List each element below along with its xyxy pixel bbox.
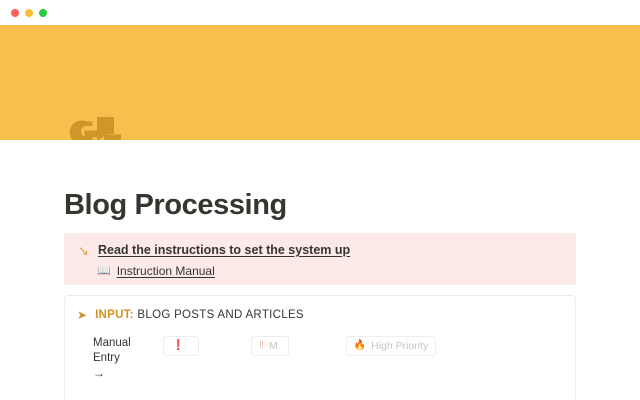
row-chips: ❗ ‼ M. 🔥 High Priority — [139, 336, 436, 356]
input-card: ➤ INPUT: BLOG POSTS AND ARTICLES Manual … — [64, 295, 576, 400]
chip-high-priority-label: High Priority — [371, 337, 428, 355]
arrow-down-right-icon: ↘ — [76, 242, 91, 259]
chip-double-exclamation-label: M. — [269, 337, 281, 355]
minimize-button[interactable] — [25, 9, 33, 17]
callout-sub-row: 📖 Instruction Manual — [97, 263, 562, 279]
app-window: Blog Processing ↘ Read the instructions … — [0, 0, 640, 400]
instruction-manual-link[interactable]: Instruction Manual — [117, 263, 215, 279]
open-book-icon: 📖 — [97, 264, 111, 279]
table-row[interactable]: Manual Entry → ❗ ‼ M. 🔥 High Priority — [65, 336, 575, 381]
window-traffic-lights — [11, 9, 47, 17]
close-button[interactable] — [11, 9, 19, 17]
arrow-right-icon: ➤ — [77, 308, 87, 322]
window-titlebar — [0, 0, 640, 25]
input-card-header: ➤ INPUT: BLOG POSTS AND ARTICLES — [65, 308, 575, 322]
manual-entry-cell[interactable]: Manual Entry → — [93, 336, 139, 381]
input-card-title: BLOG POSTS AND ARTICLES — [137, 309, 303, 321]
fire-icon: 🔥 — [354, 337, 366, 355]
zoom-button[interactable] — [39, 9, 47, 17]
chip-double-exclamation[interactable]: ‼ M. — [251, 336, 289, 356]
input-card-label: INPUT: — [95, 309, 134, 321]
input-card-header-text: INPUT: BLOG POSTS AND ARTICLES — [95, 308, 304, 322]
page-content: Blog Processing ↘ Read the instructions … — [0, 140, 640, 400]
double-exclamation-mark-icon: ‼ — [259, 337, 264, 355]
exclamation-mark-icon: ❗ — [172, 337, 184, 355]
callout-main-row: ↘ Read the instructions to set the syste… — [76, 242, 562, 259]
instructions-link[interactable]: Read the instructions to set the system … — [98, 242, 350, 259]
page-title: Blog Processing — [64, 188, 287, 222]
chip-high-priority[interactable]: 🔥 High Priority — [346, 336, 437, 356]
chip-exclamation[interactable]: ❗ — [163, 336, 199, 356]
manual-entry-label: Manual Entry — [93, 337, 131, 364]
arrow-right-glyph-icon: → — [93, 366, 139, 381]
instructions-callout: ↘ Read the instructions to set the syste… — [64, 233, 576, 285]
